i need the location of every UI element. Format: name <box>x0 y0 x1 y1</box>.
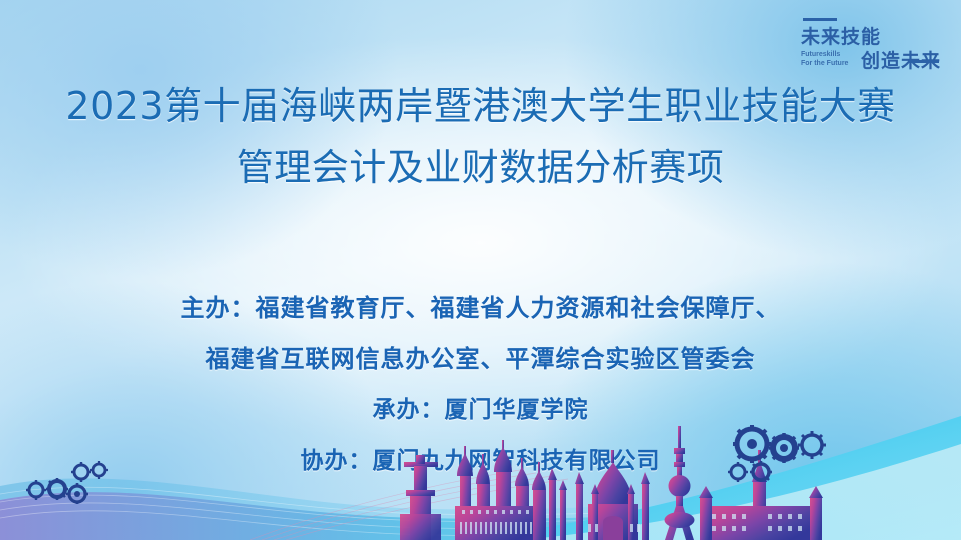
gear-cluster-right <box>726 422 846 482</box>
christ-the-redeemer-icon <box>400 455 441 540</box>
gear-icon-tiny-a <box>728 462 748 482</box>
gear-icon-large <box>733 425 771 463</box>
logo-english: Futureskills For the Future <box>801 50 848 68</box>
gear-icon-tiny-b <box>750 461 772 482</box>
logo-english-line1: Futureskills <box>801 50 848 59</box>
logo-dash-top <box>803 18 837 21</box>
futureskills-logo: 未来技能 Futureskills For the Future 创造未来 <box>787 14 941 80</box>
oriental-pearl-tower-icon <box>665 426 695 540</box>
gear-icon-small-right <box>798 431 826 459</box>
gear-icon-left-e <box>90 461 108 479</box>
gear-icon-left-b <box>46 478 68 500</box>
title-line-2: 管理会计及业财数据分析赛项 <box>0 140 961 196</box>
gear-icon-left-c <box>66 483 88 504</box>
organizer-line-2: 福建省互联网信息办公室、平潭综合实验区管委会 <box>0 334 961 385</box>
poster-canvas: 未来技能 Futureskills For the Future 创造未来 20… <box>0 0 961 540</box>
gear-icon-left-a <box>26 480 46 500</box>
logo-dash-bottom <box>909 60 939 63</box>
title-block: 2023第十届海峡两岸暨港澳大学生职业技能大赛 管理会计及业财数据分析赛项 <box>0 78 961 196</box>
logo-chinese-line1: 未来技能 <box>801 22 881 49</box>
gear-cluster-left <box>24 460 114 504</box>
title-line-1: 2023第十届海峡两岸暨港澳大学生职业技能大赛 <box>0 78 961 134</box>
minaret-group-icon <box>548 468 567 540</box>
organizer-line-1: 主办：福建省教育厅、福建省人力资源和社会保障厅、 <box>0 283 961 334</box>
gear-icon-medium <box>769 433 799 463</box>
logo-english-line2: For the Future <box>801 59 848 68</box>
gear-icon-left-d <box>71 462 91 482</box>
